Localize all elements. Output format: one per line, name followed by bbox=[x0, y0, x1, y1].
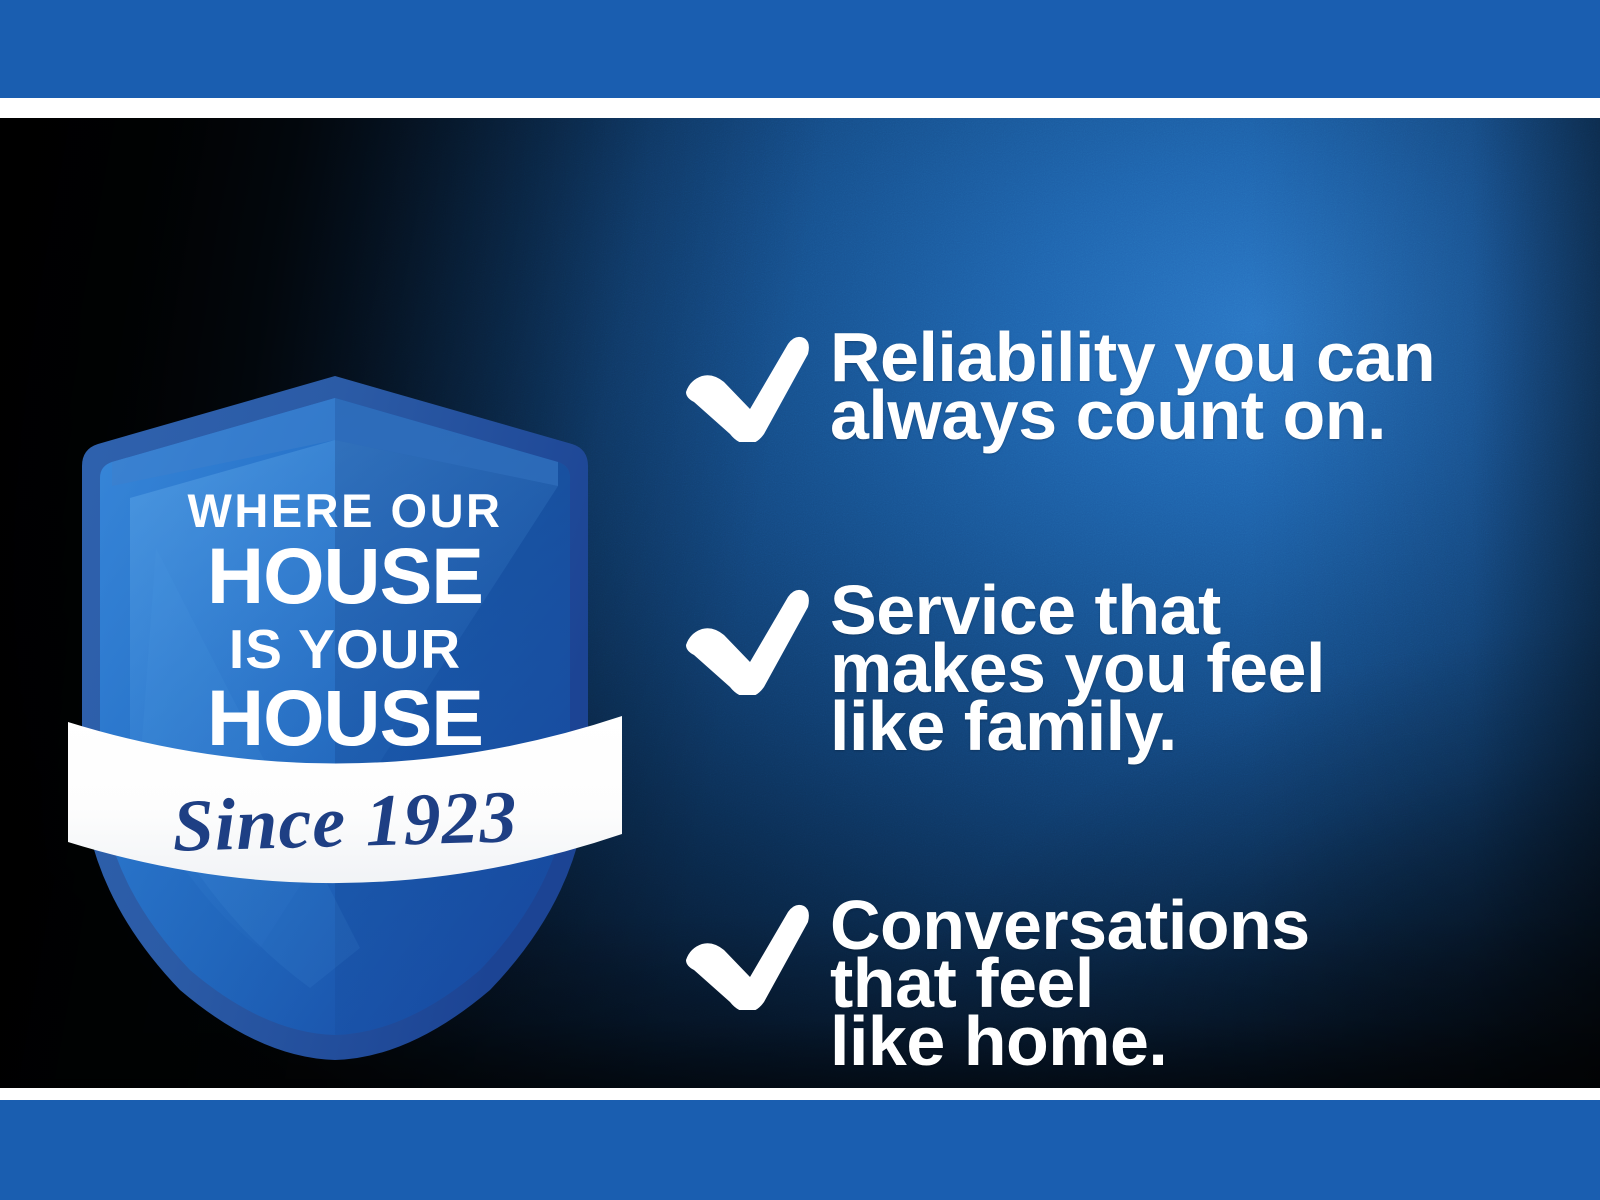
bottom-divider-stripe bbox=[0, 1088, 1600, 1100]
benefit-item-1: Reliability you can always count on. bbox=[680, 328, 1435, 444]
top-accent-bar bbox=[0, 0, 1600, 98]
benefit-item-2: Service that makes you feel like family. bbox=[680, 581, 1325, 755]
shield-line-2: HOUSE bbox=[60, 536, 630, 615]
benefit-text-3: Conversations that feel like home. bbox=[830, 896, 1310, 1070]
artwork-stage: WHERE OUR HOUSE IS YOUR HOUSE Since 1923… bbox=[0, 118, 1600, 1088]
promo-graphic: WHERE OUR HOUSE IS YOUR HOUSE Since 1923… bbox=[0, 0, 1600, 1200]
top-divider-stripe bbox=[0, 98, 1600, 118]
check-icon bbox=[680, 900, 812, 1010]
check-icon bbox=[680, 332, 812, 442]
since-ribbon-text: Since 1923 bbox=[59, 772, 631, 873]
bottom-accent-bar bbox=[0, 1100, 1600, 1200]
shield-line-3: IS YOUR bbox=[60, 622, 630, 677]
benefit-text-2: Service that makes you feel like family. bbox=[830, 581, 1325, 755]
benefit-item-3: Conversations that feel like home. bbox=[680, 896, 1310, 1070]
benefits-list: Reliability you can always count on. Ser… bbox=[680, 236, 1500, 1088]
benefit-text-1: Reliability you can always count on. bbox=[830, 328, 1435, 444]
shield-line-1: WHERE OUR bbox=[60, 487, 630, 534]
shield-logo: WHERE OUR HOUSE IS YOUR HOUSE Since 1923 bbox=[60, 248, 630, 1088]
shield-line-4: HOUSE bbox=[60, 678, 630, 757]
check-icon bbox=[680, 585, 812, 695]
